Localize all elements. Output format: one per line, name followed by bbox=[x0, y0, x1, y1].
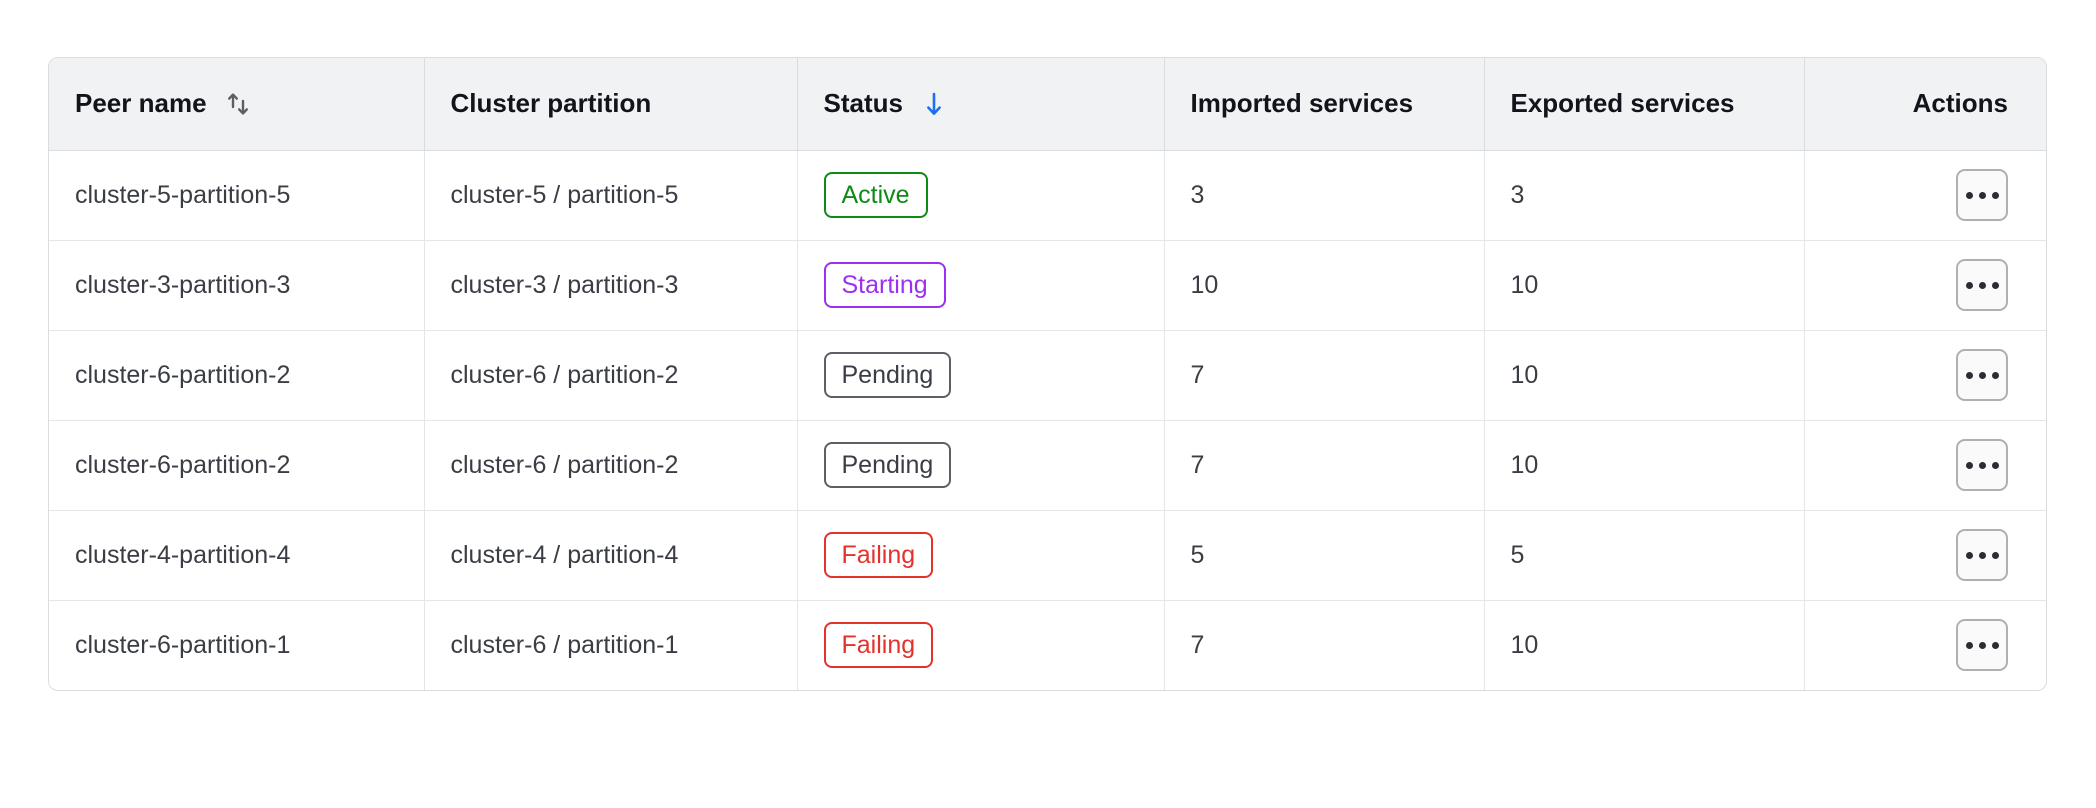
ellipsis-icon bbox=[1966, 462, 1999, 469]
table-body: cluster-5-partition-5 cluster-5 / partit… bbox=[49, 150, 2046, 690]
column-header-label: Cluster partition bbox=[451, 88, 652, 119]
row-actions-button[interactable] bbox=[1956, 349, 2008, 401]
cell-cluster-partition: cluster-3 / partition-3 bbox=[424, 240, 797, 330]
cell-actions bbox=[1804, 240, 2046, 330]
column-header-actions: Actions bbox=[1804, 58, 2046, 150]
cell-cluster-partition: cluster-6 / partition-2 bbox=[424, 330, 797, 420]
status-badge: Starting bbox=[824, 262, 946, 308]
cell-cluster-partition: cluster-4 / partition-4 bbox=[424, 510, 797, 600]
row-actions-button[interactable] bbox=[1956, 259, 2008, 311]
column-header-status[interactable]: Status bbox=[797, 58, 1164, 150]
status-badge: Failing bbox=[824, 532, 934, 578]
cell-imported-services: 10 bbox=[1164, 240, 1484, 330]
column-header-peer-name[interactable]: Peer name bbox=[49, 58, 424, 150]
cell-imported-services: 3 bbox=[1164, 150, 1484, 240]
cell-peer-name: cluster-6-partition-2 bbox=[49, 330, 424, 420]
cell-peer-name: cluster-6-partition-2 bbox=[49, 420, 424, 510]
cell-cluster-partition: cluster-5 / partition-5 bbox=[424, 150, 797, 240]
table-row[interactable]: cluster-3-partition-3 cluster-3 / partit… bbox=[49, 240, 2046, 330]
column-header-imported-services[interactable]: Imported services bbox=[1164, 58, 1484, 150]
column-header-label: Actions bbox=[1913, 88, 2008, 119]
column-header-label: Exported services bbox=[1511, 88, 1735, 119]
cell-actions bbox=[1804, 600, 2046, 690]
table-row[interactable]: cluster-4-partition-4 cluster-4 / partit… bbox=[49, 510, 2046, 600]
column-header-exported-services[interactable]: Exported services bbox=[1484, 58, 1804, 150]
ellipsis-icon bbox=[1966, 372, 1999, 379]
ellipsis-icon bbox=[1966, 552, 1999, 559]
cell-status: Active bbox=[797, 150, 1164, 240]
cell-peer-name: cluster-4-partition-4 bbox=[49, 510, 424, 600]
column-header-label: Status bbox=[824, 88, 903, 119]
cell-imported-services: 7 bbox=[1164, 420, 1484, 510]
cell-actions bbox=[1804, 510, 2046, 600]
cell-exported-services: 10 bbox=[1484, 600, 1804, 690]
cell-status: Pending bbox=[797, 420, 1164, 510]
cell-peer-name: cluster-5-partition-5 bbox=[49, 150, 424, 240]
table-row[interactable]: cluster-6-partition-1 cluster-6 / partit… bbox=[49, 600, 2046, 690]
row-actions-button[interactable] bbox=[1956, 439, 2008, 491]
cell-exported-services: 3 bbox=[1484, 150, 1804, 240]
cell-imported-services: 7 bbox=[1164, 600, 1484, 690]
cell-peer-name: cluster-3-partition-3 bbox=[49, 240, 424, 330]
status-badge: Failing bbox=[824, 622, 934, 668]
status-badge: Pending bbox=[824, 442, 952, 488]
cell-exported-services: 10 bbox=[1484, 420, 1804, 510]
ellipsis-icon bbox=[1966, 192, 1999, 199]
cell-status: Pending bbox=[797, 330, 1164, 420]
ellipsis-icon bbox=[1966, 282, 1999, 289]
ellipsis-icon bbox=[1966, 642, 1999, 649]
cell-status: Starting bbox=[797, 240, 1164, 330]
cell-actions bbox=[1804, 330, 2046, 420]
cell-imported-services: 7 bbox=[1164, 330, 1484, 420]
peers-table: Peer name bbox=[49, 58, 2046, 690]
cell-cluster-partition: cluster-6 / partition-2 bbox=[424, 420, 797, 510]
column-header-label: Peer name bbox=[75, 88, 207, 119]
cell-actions bbox=[1804, 150, 2046, 240]
table-row[interactable]: cluster-6-partition-2 cluster-6 / partit… bbox=[49, 420, 2046, 510]
row-actions-button[interactable] bbox=[1956, 169, 2008, 221]
cell-status: Failing bbox=[797, 510, 1164, 600]
cell-cluster-partition: cluster-6 / partition-1 bbox=[424, 600, 797, 690]
status-badge: Pending bbox=[824, 352, 952, 398]
table-header: Peer name bbox=[49, 58, 2046, 150]
column-header-label: Imported services bbox=[1191, 88, 1414, 119]
page-root: Peer name bbox=[0, 0, 2096, 808]
sort-both-icon[interactable] bbox=[223, 89, 253, 119]
cell-imported-services: 5 bbox=[1164, 510, 1484, 600]
table-header-row: Peer name bbox=[49, 58, 2046, 150]
cell-exported-services: 10 bbox=[1484, 330, 1804, 420]
status-badge: Active bbox=[824, 172, 928, 218]
cell-exported-services: 5 bbox=[1484, 510, 1804, 600]
peer-table-container: Peer name bbox=[48, 57, 2047, 691]
cell-exported-services: 10 bbox=[1484, 240, 1804, 330]
column-header-cluster-partition[interactable]: Cluster partition bbox=[424, 58, 797, 150]
cell-peer-name: cluster-6-partition-1 bbox=[49, 600, 424, 690]
cell-actions bbox=[1804, 420, 2046, 510]
table-row[interactable]: cluster-6-partition-2 cluster-6 / partit… bbox=[49, 330, 2046, 420]
arrow-down-icon[interactable] bbox=[919, 89, 949, 119]
row-actions-button[interactable] bbox=[1956, 619, 2008, 671]
row-actions-button[interactable] bbox=[1956, 529, 2008, 581]
table-row[interactable]: cluster-5-partition-5 cluster-5 / partit… bbox=[49, 150, 2046, 240]
cell-status: Failing bbox=[797, 600, 1164, 690]
